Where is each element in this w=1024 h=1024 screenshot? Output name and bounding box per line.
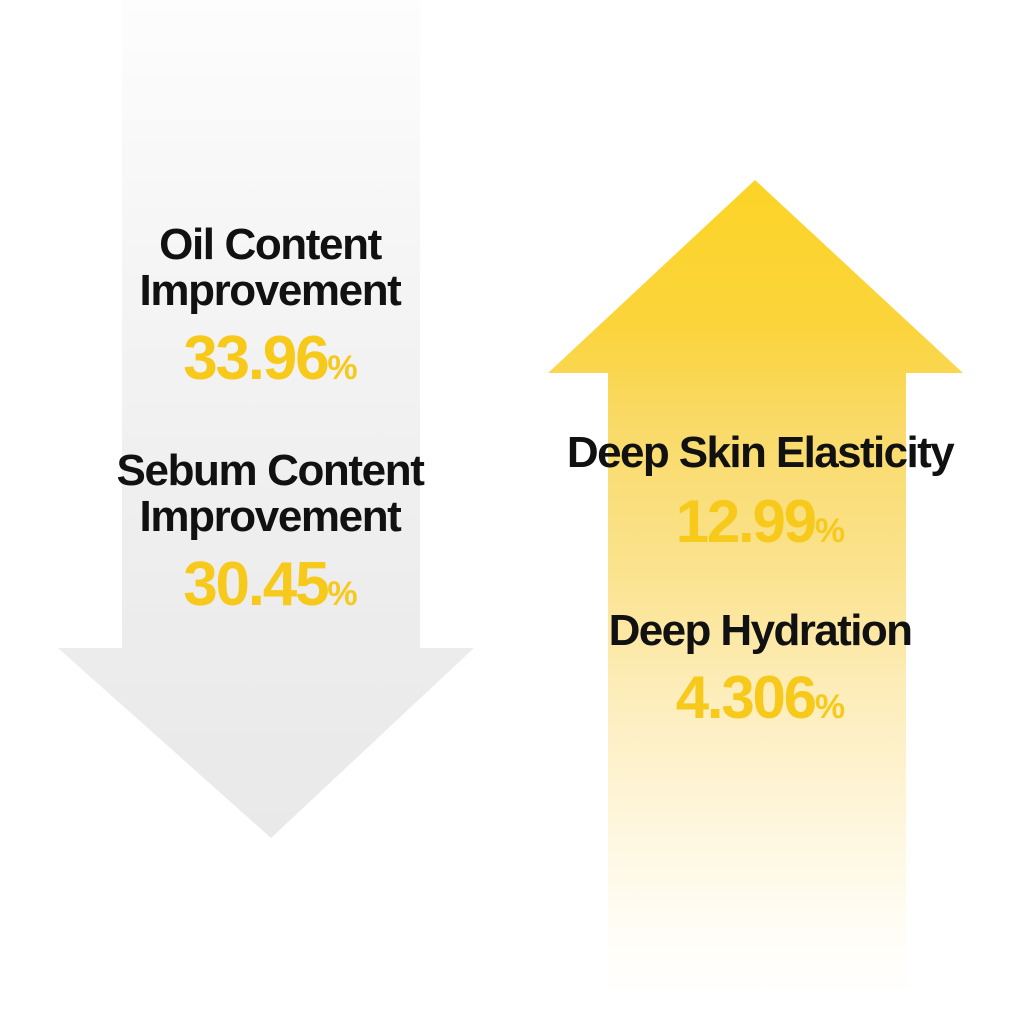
stat-oil-content: Oil Content Improvement 33.96%	[92, 222, 448, 390]
stat-oil-content-value: 33.96%	[92, 328, 448, 390]
stat-oil-content-number: 33.96	[183, 324, 327, 393]
stat-deep-skin-elasticity-label: Deep Skin Elasticity	[520, 430, 1000, 476]
stat-deep-hydration-unit: %	[815, 688, 844, 726]
stat-deep-hydration-value: 4.306%	[560, 668, 960, 728]
stat-sebum-content-number: 30.45	[183, 550, 327, 619]
stat-deep-hydration: Deep Hydration 4.306%	[560, 608, 960, 728]
infographic-canvas: Oil Content Improvement 33.96% Sebum Con…	[0, 0, 1024, 1024]
stat-deep-hydration-label-line-1: Deep Hydration	[560, 608, 960, 654]
down-arrow-shape	[58, 0, 474, 838]
stat-deep-skin-elasticity: Deep Skin Elasticity 12.99%	[520, 430, 1000, 552]
stat-sebum-content-label-line-1: Sebum Content	[78, 448, 462, 494]
stat-sebum-content-label-line-2: Improvement	[78, 494, 462, 540]
stat-oil-content-label-line-1: Oil Content	[92, 222, 448, 268]
stat-deep-skin-elasticity-unit: %	[815, 512, 844, 550]
up-arrow-shape	[548, 180, 963, 1000]
stat-deep-hydration-label: Deep Hydration	[560, 608, 960, 654]
stat-sebum-content-label: Sebum Content Improvement	[78, 448, 462, 540]
stat-deep-skin-elasticity-number: 12.99	[676, 488, 815, 555]
stat-sebum-content: Sebum Content Improvement 30.45%	[78, 448, 462, 616]
stat-oil-content-unit: %	[327, 349, 356, 387]
stat-sebum-content-unit: %	[327, 575, 356, 613]
stat-sebum-content-value: 30.45%	[78, 554, 462, 616]
stat-oil-content-label: Oil Content Improvement	[92, 222, 448, 314]
stat-deep-skin-elasticity-label-line-1: Deep Skin Elasticity	[520, 430, 1000, 476]
stat-oil-content-label-line-2: Improvement	[92, 268, 448, 314]
stat-deep-hydration-number: 4.306	[676, 664, 815, 731]
stat-deep-skin-elasticity-value: 12.99%	[520, 492, 1000, 552]
